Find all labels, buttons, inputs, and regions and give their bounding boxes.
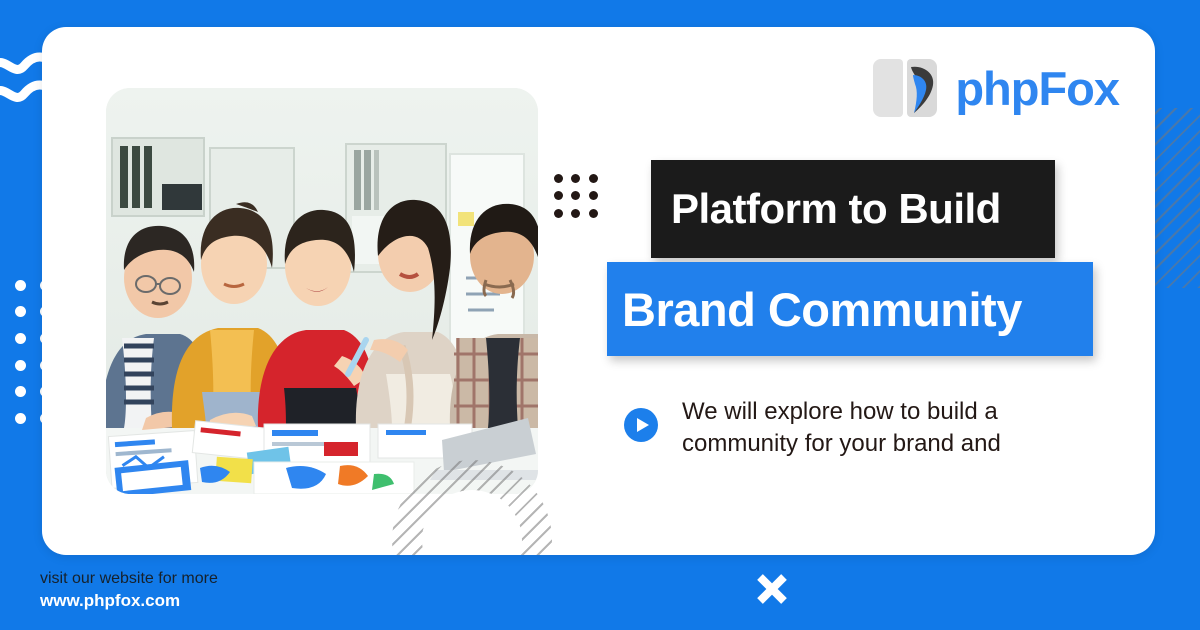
headline-bar-secondary: Brand Community [607, 262, 1093, 356]
footer-tagline: visit our website for more [40, 569, 218, 590]
content-card: phpFox [42, 27, 1155, 555]
body-text: We will explore how to build a community… [682, 396, 1042, 459]
body-copy-row: We will explore how to build a community… [624, 396, 1042, 459]
footer: visit our website for more www.phpfox.co… [40, 569, 218, 612]
headline-line-1: Platform to Build [671, 188, 1001, 230]
phpfox-logo[interactable]: phpFox [873, 59, 1119, 117]
play-circle-icon[interactable] [624, 408, 658, 447]
close-x-icon[interactable] [750, 567, 794, 616]
dot-grid-decoration-headline [550, 170, 602, 222]
logo-wordmark: phpFox [955, 65, 1119, 112]
hero-photo [106, 88, 538, 494]
headline-bar-primary: Platform to Build [651, 160, 1055, 258]
headline-line-2: Brand Community [622, 286, 1022, 333]
footer-website-url[interactable]: www.phpfox.com [40, 590, 218, 612]
phpfox-fox-mark-icon [873, 59, 941, 117]
